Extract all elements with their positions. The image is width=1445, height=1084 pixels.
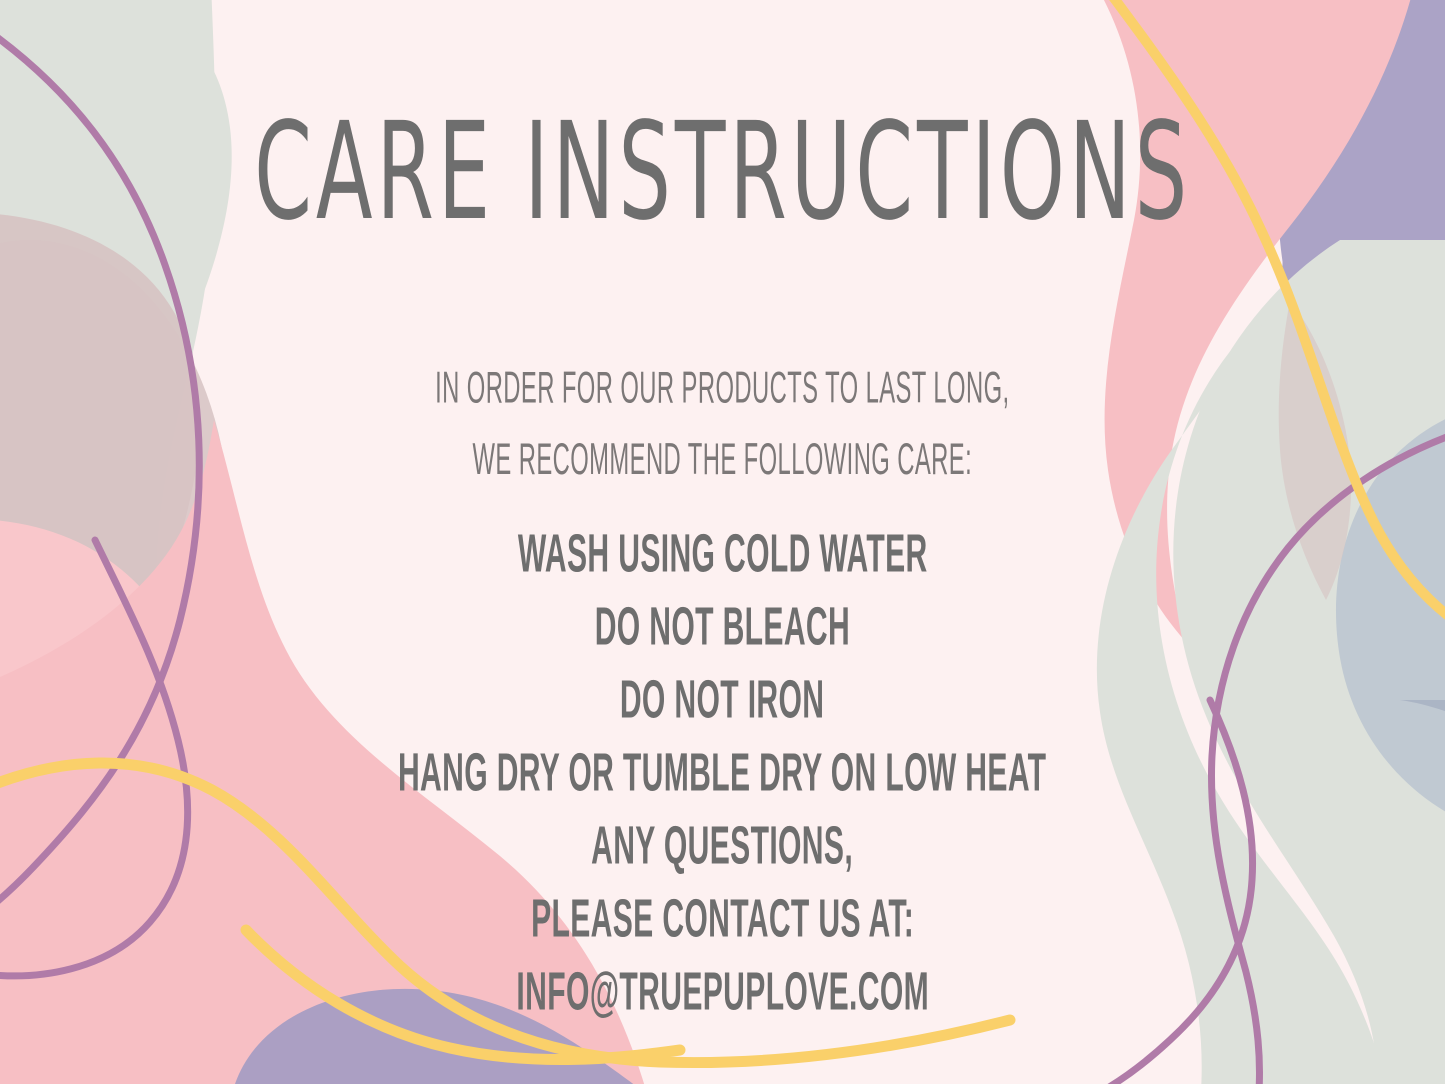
care-instructions-card: CARE INSTRUCTIONS IN ORDER FOR OUR PRODU… — [0, 0, 1445, 1084]
instruction-do-not-iron: DO NOT IRON — [620, 674, 825, 728]
instruction-wash-cold-water: WASH USING COLD WATER — [518, 528, 928, 582]
instruction-any-questions: ANY QUESTIONS, — [592, 820, 854, 874]
instruction-do-not-bleach: DO NOT BLEACH — [595, 601, 850, 655]
intro-line-2: WE RECOMMEND THE FOLLOWING CARE: — [435, 425, 1009, 497]
intro-line-1: IN ORDER FOR OUR PRODUCTS TO LAST LONG, — [435, 353, 1009, 425]
instruction-contact-us: PLEASE CONTACT US AT: — [531, 893, 914, 947]
contact-email: INFO@TRUEPUPLOVE.COM — [516, 966, 929, 1020]
instructions-list: WASH USING COLD WATER DO NOT BLEACH DO N… — [0, 533, 1445, 1044]
instruction-hang-dry: HANG DRY OR TUMBLE DRY ON LOW HEAT — [398, 747, 1046, 801]
card-content: CARE INSTRUCTIONS IN ORDER FOR OUR PRODU… — [0, 0, 1445, 1084]
intro-text: IN ORDER FOR OUR PRODUCTS TO LAST LONG, … — [435, 353, 1009, 496]
page-title: CARE INSTRUCTIONS — [254, 104, 1191, 239]
